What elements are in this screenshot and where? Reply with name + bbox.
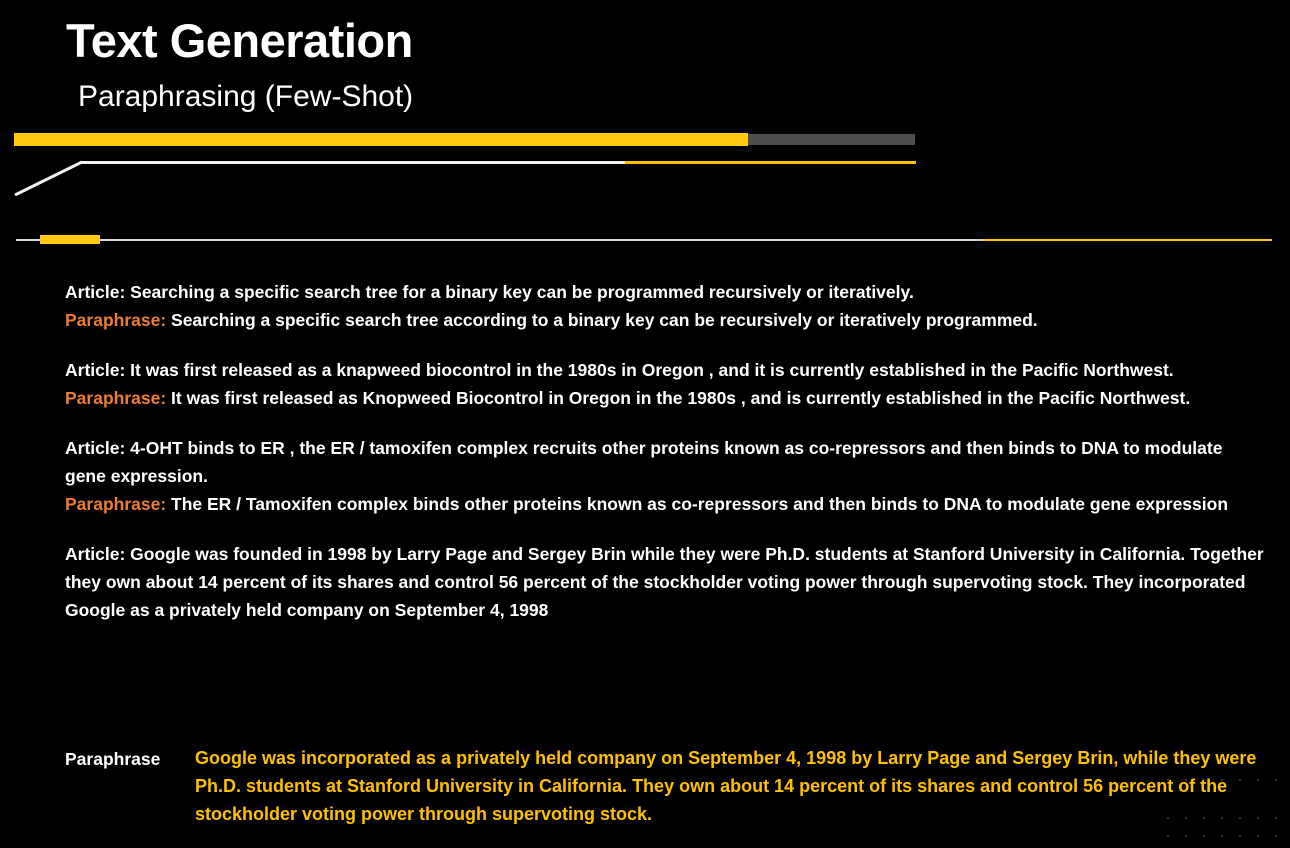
paraphrase-label: Paraphrase: xyxy=(65,494,171,514)
paraphrase-label: Paraphrase: xyxy=(65,310,171,330)
decor-bar-grey xyxy=(748,134,915,145)
paraphrase-text: It was first released as Knopweed Biocon… xyxy=(171,388,1190,408)
page-subtitle: Paraphrasing (Few-Shot) xyxy=(78,80,413,115)
article-line: Article: Searching a specific search tre… xyxy=(65,278,1265,306)
article-text: Searching a specific search tree for a b… xyxy=(130,282,914,302)
decor-bar-yellow xyxy=(14,133,748,146)
paraphrase-label: Paraphrase: xyxy=(65,388,171,408)
decor-diagonal-line-icon xyxy=(14,160,84,196)
article-label: Article: xyxy=(65,360,130,380)
final-paraphrase-text: Google was incorporated as a privately h… xyxy=(195,744,1280,828)
example-item: Article: 4-OHT binds to ER , the ER / ta… xyxy=(65,434,1265,518)
decor-rule-yellow-upper xyxy=(625,161,916,164)
decor-dot-grid-icon xyxy=(1162,772,1282,842)
article-label: Article: xyxy=(65,438,130,458)
article-label: Article: xyxy=(65,544,130,564)
paraphrase-text: Searching a specific search tree accordi… xyxy=(171,310,1038,330)
example-item-query: Article: Google was founded in 1998 by L… xyxy=(65,540,1265,624)
article-text: It was first released as a knapweed bioc… xyxy=(130,360,1174,380)
article-line: Article: 4-OHT binds to ER , the ER / ta… xyxy=(65,434,1265,490)
decor-rule-white-upper xyxy=(80,161,626,164)
paraphrase-text: The ER / Tamoxifen complex binds other p… xyxy=(171,494,1228,514)
examples-container: Article: Searching a specific search tre… xyxy=(65,278,1265,624)
final-paraphrase-label: Paraphrase xyxy=(65,744,195,773)
decor-rule-yellow-lower xyxy=(983,239,1272,241)
paraphrase-line: Paraphrase: The ER / Tamoxifen complex b… xyxy=(65,490,1265,518)
article-line: Article: Google was founded in 1998 by L… xyxy=(65,540,1265,624)
article-line: Article: It was first released as a knap… xyxy=(65,356,1265,384)
example-item: Article: Searching a specific search tre… xyxy=(65,278,1265,334)
decor-block-yellow-lower xyxy=(40,235,100,244)
article-text: Google was founded in 1998 by Larry Page… xyxy=(65,544,1264,620)
article-text: 4-OHT binds to ER , the ER / tamoxifen c… xyxy=(65,438,1222,486)
example-item: Article: It was first released as a knap… xyxy=(65,356,1265,412)
article-label: Article: xyxy=(65,282,130,302)
page-title: Text Generation xyxy=(66,16,413,65)
paraphrase-line: Paraphrase: It was first released as Kno… xyxy=(65,384,1265,412)
final-answer-row: Paraphrase Google was incorporated as a … xyxy=(65,744,1280,828)
paraphrase-line: Paraphrase: Searching a specific search … xyxy=(65,306,1265,334)
decor-rule-white-lower xyxy=(16,239,984,241)
